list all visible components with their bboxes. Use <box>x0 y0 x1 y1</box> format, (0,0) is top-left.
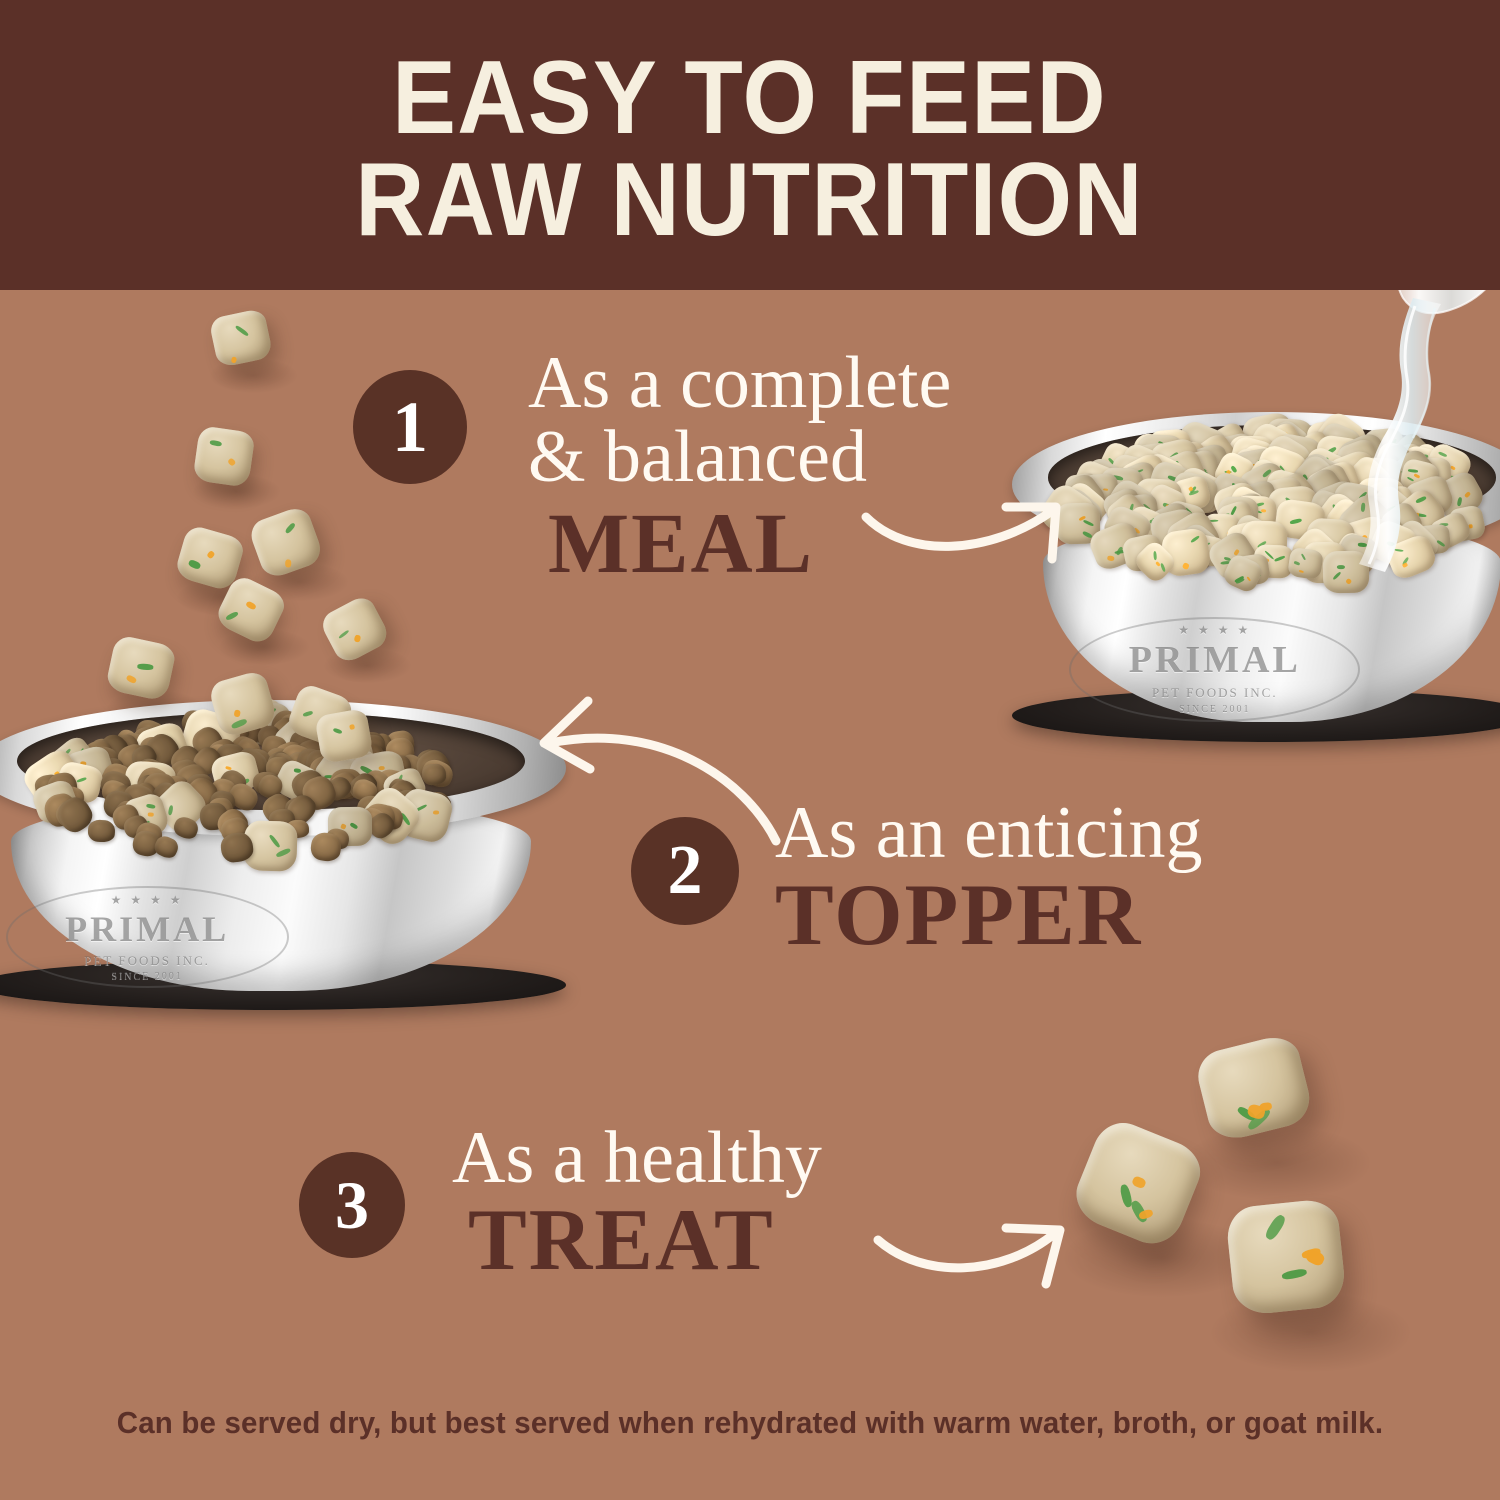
header-title-line-2: RAW NUTRITION <box>356 150 1145 252</box>
step-3-emphasis: TREAT <box>468 1197 822 1285</box>
curved-arrow-right-icon-meal <box>860 485 1090 595</box>
footer-note: Can be served dry, but best served when … <box>38 1405 1463 1441</box>
step-3-text: As a healthy TREAT <box>452 1121 822 1285</box>
product-infographic: EASY TO FEED RAW NUTRITION <box>0 0 1500 1500</box>
header-text-block: EASY TO FEED RAW NUTRITION <box>0 0 1500 290</box>
curved-arrow-right-icon-treat <box>872 1196 1092 1306</box>
header-banner: EASY TO FEED RAW NUTRITION <box>0 0 1500 290</box>
curved-arrow-left-icon-topper <box>530 695 790 845</box>
header-title-line-1: EASY TO FEED <box>393 48 1108 150</box>
step-3-number: 3 <box>335 1171 369 1239</box>
step-3-badge: 3 <box>299 1152 405 1258</box>
step-3-line-1: As a healthy <box>452 1121 822 1195</box>
